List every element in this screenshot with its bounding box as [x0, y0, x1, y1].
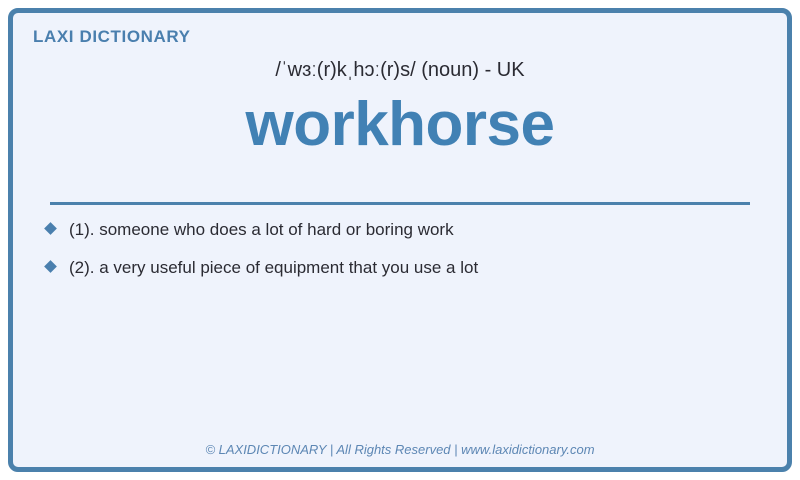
list-item: (1). someone who does a lot of hard or b…: [38, 218, 757, 242]
diamond-bullet-icon: [44, 222, 57, 235]
section-divider: [50, 202, 750, 205]
phonetic-transcription: /ˈwɜː(r)kˌhɔː(r)s/ (noun) - UK: [13, 57, 787, 83]
headword: workhorse: [13, 89, 787, 161]
site-brand-title: LAXI DICTIONARY: [33, 27, 191, 47]
definition-list: (1). someone who does a lot of hard or b…: [38, 218, 757, 294]
diamond-bullet-icon: [44, 260, 57, 273]
dictionary-card: LAXI DICTIONARY /ˈwɜː(r)kˌhɔː(r)s/ (noun…: [8, 8, 792, 472]
definition-text: (2). a very useful piece of equipment th…: [69, 256, 478, 280]
footer-copyright: © LAXIDICTIONARY | All Rights Reserved |…: [13, 442, 787, 457]
entry-header: /ˈwɜː(r)kˌhɔː(r)s/ (noun) - UK workhorse: [13, 57, 787, 161]
list-item: (2). a very useful piece of equipment th…: [38, 256, 757, 280]
definition-text: (1). someone who does a lot of hard or b…: [69, 218, 454, 242]
